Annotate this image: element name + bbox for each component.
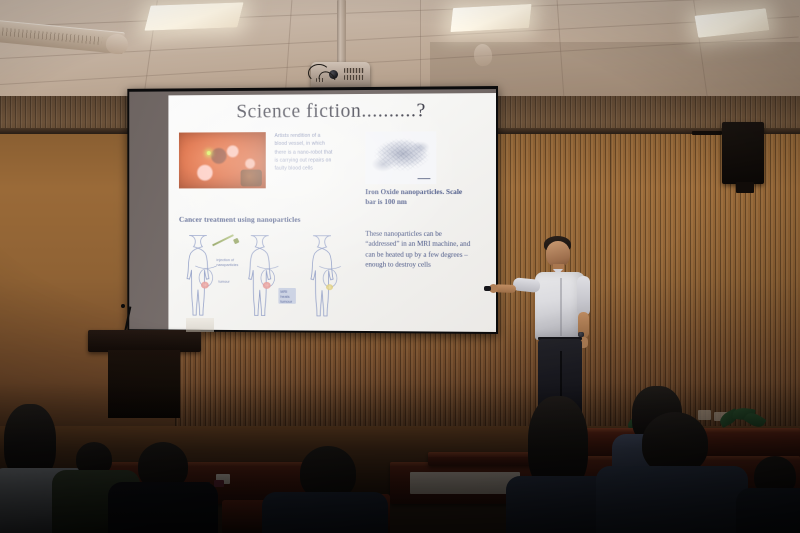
wall-speaker	[722, 122, 764, 184]
audience-member	[110, 442, 214, 533]
projector-vent	[344, 68, 364, 73]
scale-bar	[418, 178, 431, 179]
body-figure-3	[302, 233, 359, 324]
audience-member	[596, 412, 748, 533]
projection-screen: Science fiction..........? Artists rendi…	[127, 86, 498, 334]
ceiling	[0, 0, 800, 98]
presenter-shirt-placket	[560, 278, 562, 336]
lecture-hall-scene: Science fiction..........? Artists rendi…	[0, 0, 800, 533]
screen-surface: Science fiction..........? Artists rendi…	[129, 89, 496, 332]
ceiling-light-panel	[450, 4, 531, 32]
podium-microphone-head	[121, 304, 125, 308]
audience-member	[740, 456, 800, 533]
audience-torso	[736, 488, 800, 533]
body-figure-1: injection of nanoparticles tumour	[178, 233, 234, 324]
podium-papers	[186, 318, 214, 332]
nano-robot	[241, 170, 262, 187]
tumour-marker	[201, 282, 209, 289]
heating-label: MRI heats tumour	[278, 288, 296, 304]
tumour-marker	[263, 282, 271, 289]
tem-caption: Iron Oxide nanoparticles. Scale bar is 1…	[365, 187, 474, 208]
tem-micrograph	[365, 131, 436, 184]
speaker-bracket	[736, 182, 754, 193]
blood-vessel-illustration	[179, 132, 266, 188]
body-figure-row: injection of nanoparticles tumour	[176, 233, 360, 324]
podium-body	[108, 350, 180, 418]
ceiling-tile-seam	[420, 0, 421, 98]
audience-torso	[596, 466, 748, 533]
presenter-upper-arm	[512, 277, 540, 293]
treated-tumour-marker	[326, 284, 333, 290]
audience-torso	[108, 482, 218, 533]
tem-grain-texture	[365, 131, 436, 184]
speaker-bracket	[692, 131, 722, 135]
presenter-upper-arm	[577, 276, 590, 316]
body-outline-svg	[178, 233, 234, 324]
nanorobot-indicator	[207, 151, 211, 155]
audience-torso	[262, 492, 388, 533]
podium-top	[88, 330, 201, 352]
body-outline-svg	[302, 233, 359, 324]
projector-vent	[344, 75, 364, 80]
injection-label: injection of nanoparticles	[216, 258, 237, 268]
presenter-remote[interactable]	[484, 286, 491, 291]
body-figure-2: MRI heats tumour	[240, 233, 296, 324]
audience-head	[642, 412, 708, 474]
body-outline-svg	[240, 233, 296, 324]
cancer-heading: Cancer treatment using nanoparticles	[179, 215, 301, 224]
ceiling-light-panel	[695, 8, 770, 37]
injection-needle-tip	[233, 238, 239, 245]
tumour-label: tumour	[218, 280, 233, 285]
item-on-desk[interactable]	[214, 480, 224, 487]
audience-member	[506, 396, 610, 533]
slide: Science fiction..........? Artists rendi…	[168, 93, 496, 332]
slide-title: Science fiction..........?	[168, 99, 496, 124]
air-vent-grill	[0, 28, 102, 45]
vessel-caption: Artists rendition of a blood vessel, in …	[275, 132, 333, 173]
projector-pole	[337, 0, 346, 66]
mri-caption: These nanoparticles can be “addressed” i…	[365, 229, 472, 270]
ceiling-light-panel	[144, 2, 243, 30]
audience-member	[256, 446, 390, 533]
